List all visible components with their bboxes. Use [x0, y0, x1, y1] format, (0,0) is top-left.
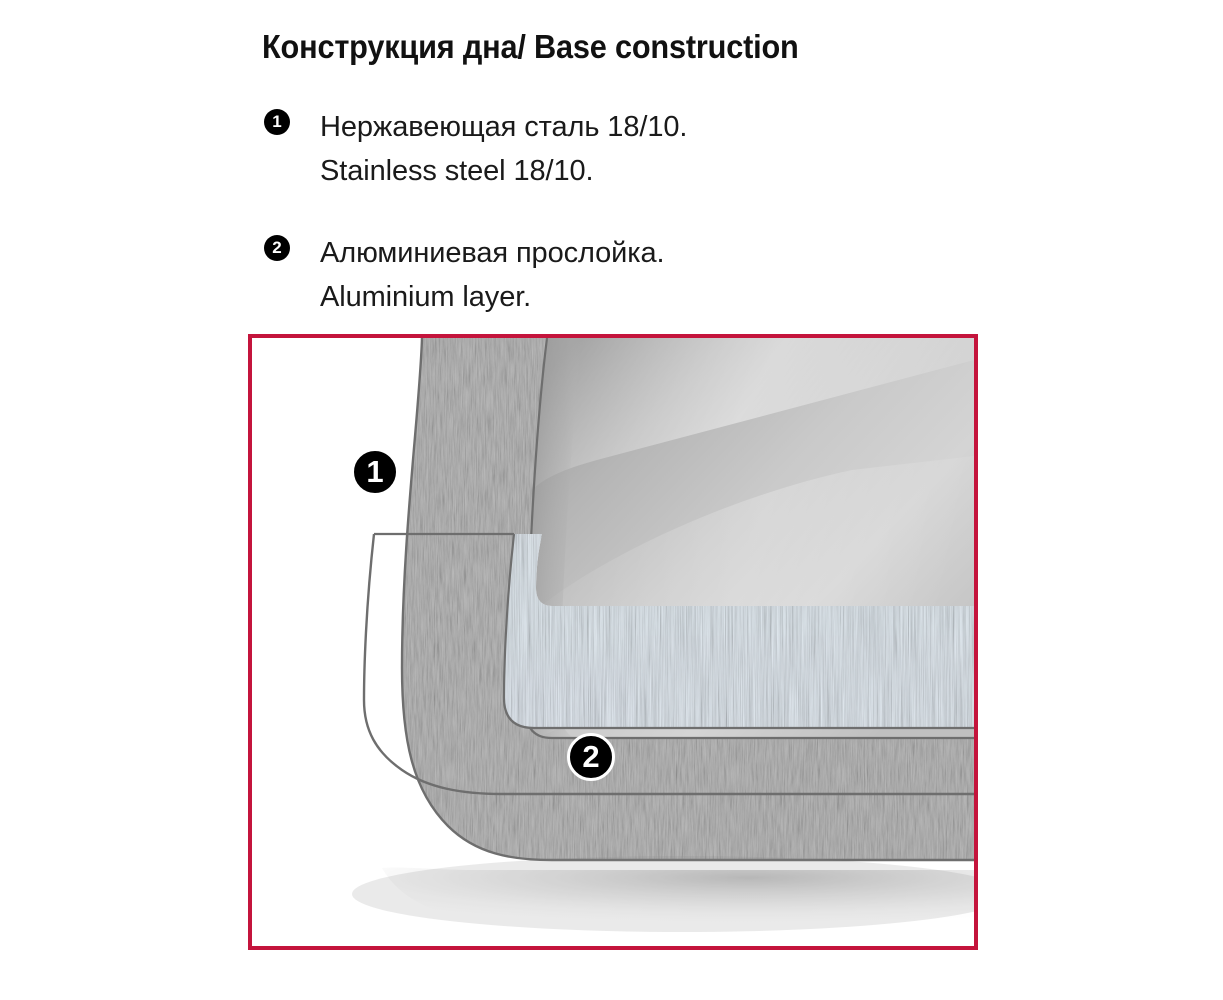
- legend-item-1-text: Нержавеющая сталь 18/10. Stainless steel…: [320, 105, 904, 193]
- legend-item-2: 2 Алюминиевая прослойка. Aluminium layer…: [264, 231, 904, 319]
- legend-item-2-line-ru: Алюминиевая прослойка.: [320, 231, 904, 275]
- legend-list: 1 Нержавеющая сталь 18/10. Stainless ste…: [264, 105, 904, 357]
- page-title: Конструкция дна/ Base construction: [262, 27, 799, 67]
- callout-badge-1: 1: [351, 448, 399, 496]
- callout-badge-2: 2: [567, 733, 615, 781]
- bullet-number-2-icon: 2: [264, 235, 290, 261]
- base-construction-illustration: 1 2: [252, 338, 974, 946]
- legend-item-1-line-ru: Нержавеющая сталь 18/10.: [320, 105, 904, 149]
- legend-item-2-text: Алюминиевая прослойка. Aluminium layer.: [320, 231, 904, 319]
- legend-item-1-line-en: Stainless steel 18/10.: [320, 149, 904, 193]
- pan-cross-section-svg: [252, 338, 974, 946]
- diagram-frame: 1 2: [248, 334, 978, 950]
- bullet-number-1-icon: 1: [264, 109, 290, 135]
- legend-item-2-line-en: Aluminium layer.: [320, 275, 904, 319]
- legend-item-1: 1 Нержавеющая сталь 18/10. Stainless ste…: [264, 105, 904, 193]
- base-drop-shadow: [352, 856, 974, 932]
